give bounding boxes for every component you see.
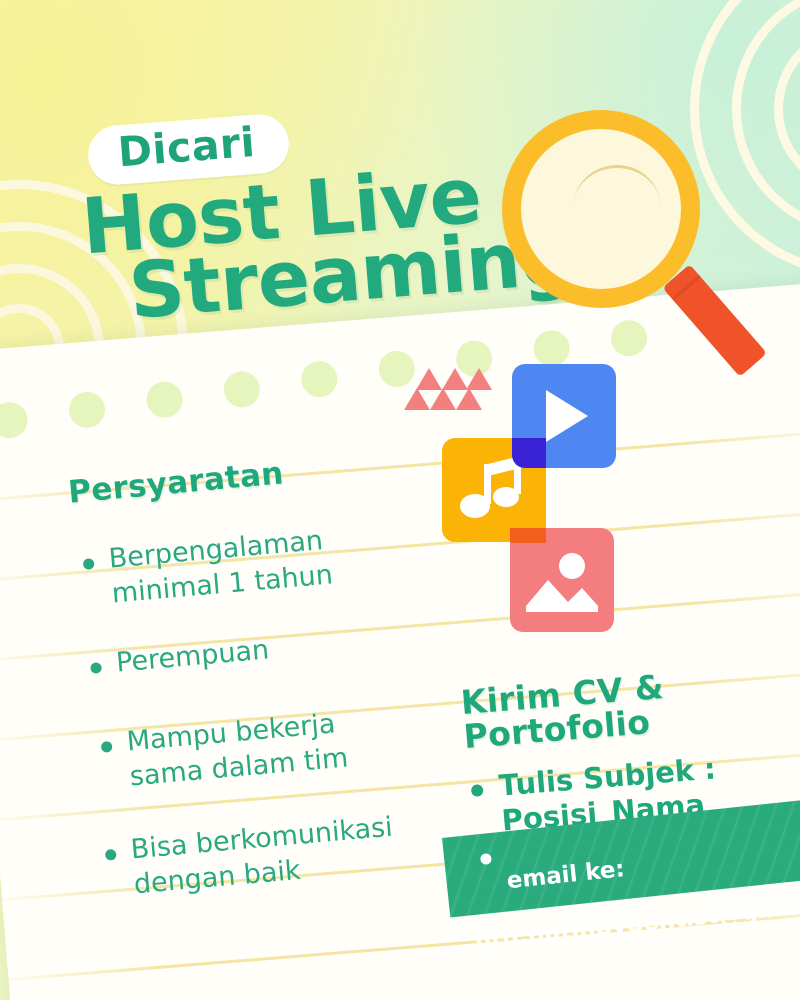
magnifier-glare	[573, 165, 661, 208]
photo-image-icon	[510, 528, 614, 632]
requirement-item: Perempuan	[115, 633, 271, 681]
magnifier-lens	[502, 110, 700, 308]
poster-canvas: Dicari Host Live Streaming	[0, 0, 800, 1000]
dicari-badge-label: Dicari	[116, 122, 256, 173]
magnifier-handle	[662, 264, 767, 377]
poster-content-layer: Dicari Host Live Streaming	[0, 0, 800, 1000]
requirement-item: Bisa berkomunikasi dengan baik	[129, 811, 397, 903]
submit-heading: Kirim CV & Portofolio	[460, 670, 668, 753]
requirement-item: Berpengalaman minimal 1 tahun	[107, 523, 334, 611]
media-icon-stack	[440, 358, 620, 618]
play-triangle	[546, 390, 588, 442]
magnifier-icon	[498, 108, 728, 368]
photo-image-glyph	[524, 544, 600, 616]
requirements-heading: Persyaratan	[67, 458, 285, 509]
music-image-overlap	[510, 528, 546, 543]
email-label: email ke:	[468, 827, 800, 900]
requirement-item: Mampu bekerja sama dalam tim	[125, 707, 349, 795]
email-address[interactable]: hrd.putihbydentist@gmail.com	[474, 886, 800, 954]
video-music-overlap	[512, 438, 546, 468]
